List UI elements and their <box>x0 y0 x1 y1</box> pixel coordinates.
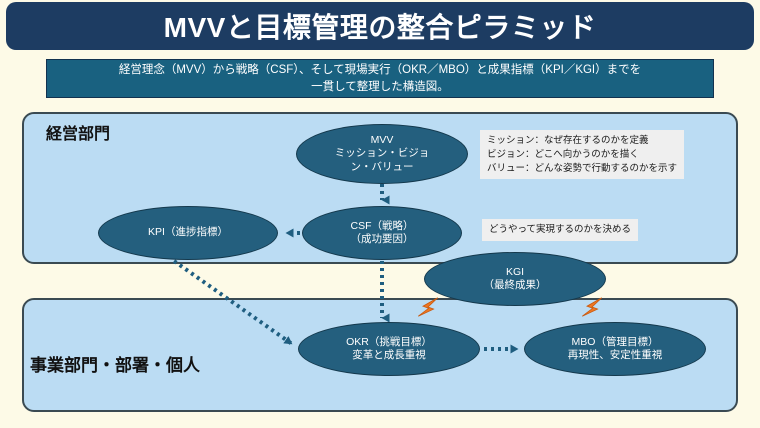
note-mvv-line-2: ビジョン：どこへ向かうのかを描く <box>487 149 639 160</box>
node-mbo[interactable]: MBO（管理目標） 再現性、安定性重視 <box>524 322 706 376</box>
node-mbo-line-1: MBO（管理目標） <box>572 336 659 349</box>
connector-kpi-to-okr <box>174 261 292 344</box>
node-kgi-line-1: KGI <box>506 266 524 279</box>
note-mvv: ミッション：なぜ存在するのかを定義 ビジョン：どこへ向かうのかを描く バリュー：… <box>480 130 684 179</box>
node-mvv-line-1: MVV <box>371 134 394 147</box>
node-mvv-line-3: ン・バリュー <box>351 161 414 174</box>
lightning-bolt-okr-icon <box>418 294 437 321</box>
note-csf: どうやって実現するのかを決める <box>482 219 638 241</box>
node-mvv[interactable]: MVV ミッション・ビジョ ン・バリュー <box>296 124 468 184</box>
diagram-root: MVVと目標管理の整合ピラミッド 経営理念（MVV）から戦略（CSF）、そして現… <box>0 0 760 428</box>
note-mvv-line-3: バリュー：どんな姿勢で行動するのかを示す <box>487 163 677 174</box>
note-mvv-line-1: ミッション：なぜ存在するのかを定義 <box>487 135 649 146</box>
node-okr-line-1: OKR（挑戦目標） <box>346 336 432 349</box>
node-csf-line-1: CSF（戦略） <box>351 220 414 233</box>
panel-label-business: 事業部門・部署・個人 <box>30 351 200 376</box>
lightning-bolt-mbo-icon <box>582 294 601 321</box>
panel-label-management: 経営部門 <box>46 120 110 144</box>
node-csf[interactable]: CSF（戦略） （成功要因） <box>302 206 462 260</box>
node-csf-line-2: （成功要因） <box>351 233 414 246</box>
node-mvv-line-2: ミッション・ビジョ <box>335 147 430 160</box>
node-kpi[interactable]: KPI（進捗指標） <box>98 206 278 260</box>
node-kgi-line-2: （最終成果） <box>484 279 547 292</box>
node-kpi-line-1: KPI（進捗指標） <box>148 226 228 239</box>
node-mbo-line-2: 再現性、安定性重視 <box>568 349 663 362</box>
node-okr[interactable]: OKR（挑戦目標） 変革と成長重視 <box>298 322 480 376</box>
note-csf-line-1: どうやって実現するのかを決める <box>489 224 631 235</box>
node-okr-line-2: 変革と成長重視 <box>352 349 426 362</box>
node-kgi[interactable]: KGI （最終成果） <box>424 252 606 306</box>
